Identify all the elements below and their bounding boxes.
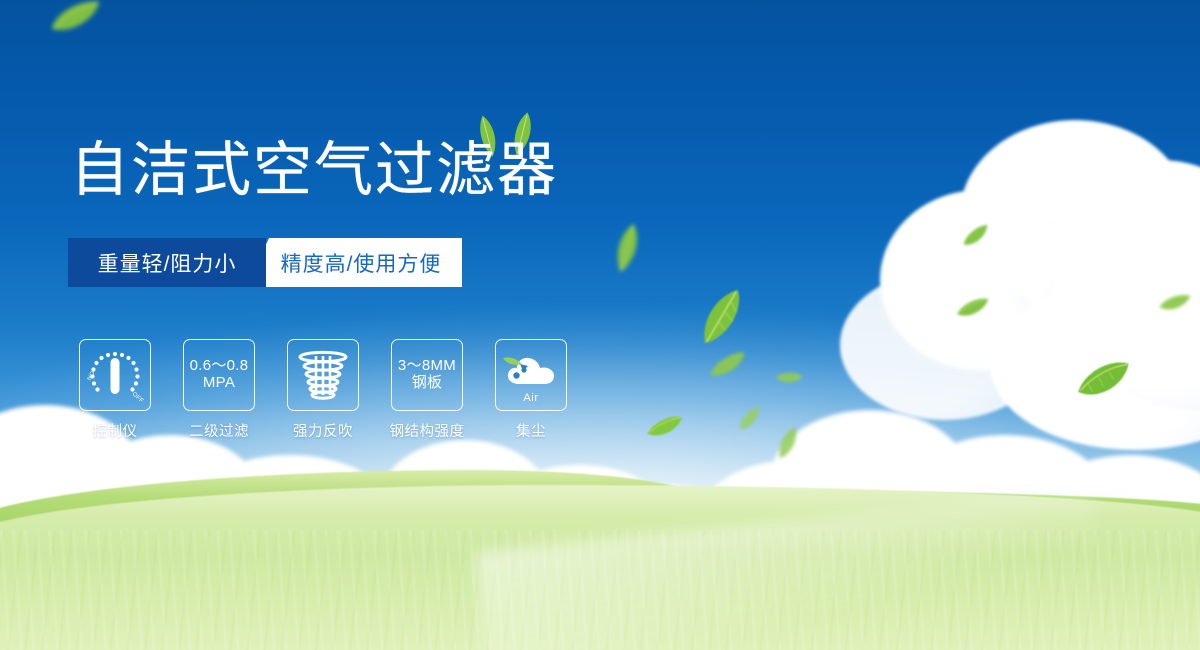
- feature-label: 钢结构强度: [390, 420, 465, 441]
- feature-label: 控制仪: [93, 420, 138, 441]
- feature-icon-line1: 3～8MM: [398, 357, 456, 374]
- floating-leaf-icon: [952, 291, 994, 326]
- floating-leaf-icon: [704, 345, 753, 386]
- feature-item-controller[interactable]: NO OFF 控制仪: [79, 339, 151, 441]
- floating-leaf-icon: [604, 219, 650, 278]
- page-title: 自洁式空气过滤器: [70, 141, 558, 200]
- floating-leaf-icon: [1071, 354, 1137, 407]
- steel-plate-text-icon: 3～8MM 钢板: [391, 339, 463, 411]
- floating-leaf-icon: [45, 0, 108, 40]
- air-label: Air: [496, 392, 566, 404]
- floating-leaf-icon: [957, 218, 996, 253]
- feature-icon-line2: 钢板: [398, 375, 456, 392]
- subtitle-right-panel: 精度高/使用方便: [246, 238, 462, 287]
- feature-label: 集尘: [516, 420, 546, 441]
- cloud-large-right: [840, 120, 1200, 450]
- gauge-dial-icon: NO OFF: [79, 339, 151, 411]
- subtitle-left-panel: 重量轻/阻力小: [68, 238, 266, 287]
- subtitle-bar: 精度高/使用方便 重量轻/阻力小: [68, 238, 462, 287]
- pressure-text-icon: 0.6～0.8 MPA: [183, 339, 255, 411]
- feature-list: NO OFF 控制仪 0.6～0.8 MPA 二级过滤: [79, 339, 567, 441]
- floating-leaf-icon: [774, 366, 805, 390]
- cloud-air-icon: Air: [495, 339, 567, 411]
- feature-item-steel-strength[interactable]: 3～8MM 钢板 钢结构强度: [391, 339, 463, 441]
- promo-banner: 自洁式空气过滤器 精度高/使用方便 重量轻/阻力小: [0, 0, 1200, 650]
- feature-item-secondary-filter[interactable]: 0.6～0.8 MPA 二级过滤: [183, 339, 255, 441]
- floating-leaf-icon: [1156, 287, 1194, 319]
- feature-label: 强力反吹: [293, 420, 353, 441]
- feature-item-backblow[interactable]: 强力反吹: [287, 339, 359, 441]
- air-blast-stack-icon: [287, 339, 359, 411]
- feature-icon-line1: 0.6～0.8: [190, 357, 249, 374]
- feature-icon-line2: MPA: [190, 375, 249, 392]
- floating-leaf-icon: [731, 401, 768, 437]
- feature-label: 二级过滤: [189, 420, 249, 441]
- feature-item-dust-collection[interactable]: Air 集尘: [495, 339, 567, 441]
- floating-leaf-icon: [769, 421, 807, 464]
- floating-leaf-icon: [642, 410, 687, 444]
- floating-leaf-icon: [688, 278, 757, 355]
